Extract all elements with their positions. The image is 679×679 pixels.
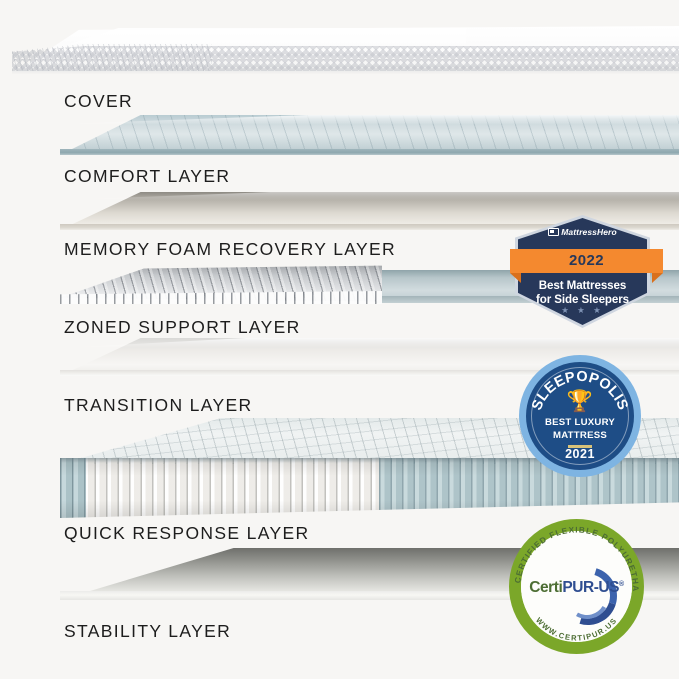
badge-mattress-hero: MattressHero 2022 Best Mattresses for Si… xyxy=(511,215,654,328)
layer-label-stability: STABILITY LAYER xyxy=(64,621,231,642)
badge-sleep-title-line2: MATTRESS xyxy=(526,430,634,443)
cover-sheen xyxy=(52,28,466,50)
zoned-coil-band xyxy=(60,291,382,304)
badge-hero-wordmark: MattressHero xyxy=(515,228,650,237)
badge-certi-registered: ® xyxy=(619,581,624,588)
badge-certi-word-part1: Certi xyxy=(529,579,562,596)
svg-text:WWW.CERTIPUR.US: WWW.CERTIPUR.US xyxy=(534,616,619,643)
quick-coil-left-cap xyxy=(60,458,86,518)
mattress-layers-diagram: COVER COMFORT LAYER MEMORY FOAM RECOVERY… xyxy=(0,0,679,679)
zoned-ribbed-section xyxy=(60,262,382,308)
badge-sleep-disc: SLEEPOPOLIS 🏆 BEST LUXURY MATTRESS 2021 xyxy=(526,362,634,470)
layer-label-cover: COVER xyxy=(64,91,133,112)
layer-label-comfort: COMFORT LAYER xyxy=(64,166,230,187)
layer-label-memory-foam: MEMORY FOAM RECOVERY LAYER xyxy=(64,239,396,260)
badge-hero-title-line1: Best Mattresses xyxy=(515,279,650,293)
badge-certi-word-part2: PUR-US xyxy=(562,579,619,596)
cover-top-face xyxy=(12,26,679,74)
layer-label-quick-response: QUICK RESPONSE LAYER xyxy=(64,523,310,544)
bed-icon xyxy=(548,228,559,236)
zoned-rib-texture xyxy=(60,262,382,308)
trophy-icon: 🏆 xyxy=(526,391,634,412)
badge-hero-brand-text: MattressHero xyxy=(561,227,617,237)
badge-sleep-year: 2021 xyxy=(526,447,634,461)
badge-sleepopolis: SLEEPOPOLIS 🏆 BEST LUXURY MATTRESS 2021 xyxy=(519,355,641,477)
transition-highlight xyxy=(60,338,679,348)
cover-quilt-stitching xyxy=(12,44,212,72)
cover-chevron-texture xyxy=(12,46,679,72)
layer-label-zoned-support: ZONED SUPPORT LAYER xyxy=(64,317,301,338)
comfort-front-edge xyxy=(60,149,679,155)
badge-hero-hexagon: MattressHero 2022 Best Mattresses for Si… xyxy=(515,215,650,328)
badge-hero-title: Best Mattresses for Side Sleepers xyxy=(515,279,650,306)
comfort-channel-texture xyxy=(60,115,679,155)
quick-coil-cream-section xyxy=(60,458,382,518)
comfort-highlight xyxy=(60,115,679,124)
cover-slab xyxy=(12,26,679,74)
comfort-top-face xyxy=(60,115,679,155)
badge-hero-stars: ★ ★ ★ xyxy=(515,305,650,316)
memory-highlight xyxy=(60,192,679,200)
badge-certipur-us: CertiPUR-US® CONTAINS CERTIFIED FLEXIBLE… xyxy=(509,519,644,654)
comfort-slab xyxy=(60,115,679,155)
badge-hero-year: 2022 xyxy=(510,249,663,273)
layer-label-transition: TRANSITION LAYER xyxy=(64,395,253,416)
badge-certi-wordmark: CertiPUR-US® xyxy=(521,579,632,597)
badge-sleep-title: BEST LUXURY MATTRESS xyxy=(526,417,634,442)
cover-base-edge xyxy=(12,71,679,74)
badge-sleep-title-line1: BEST LUXURY xyxy=(526,417,634,430)
